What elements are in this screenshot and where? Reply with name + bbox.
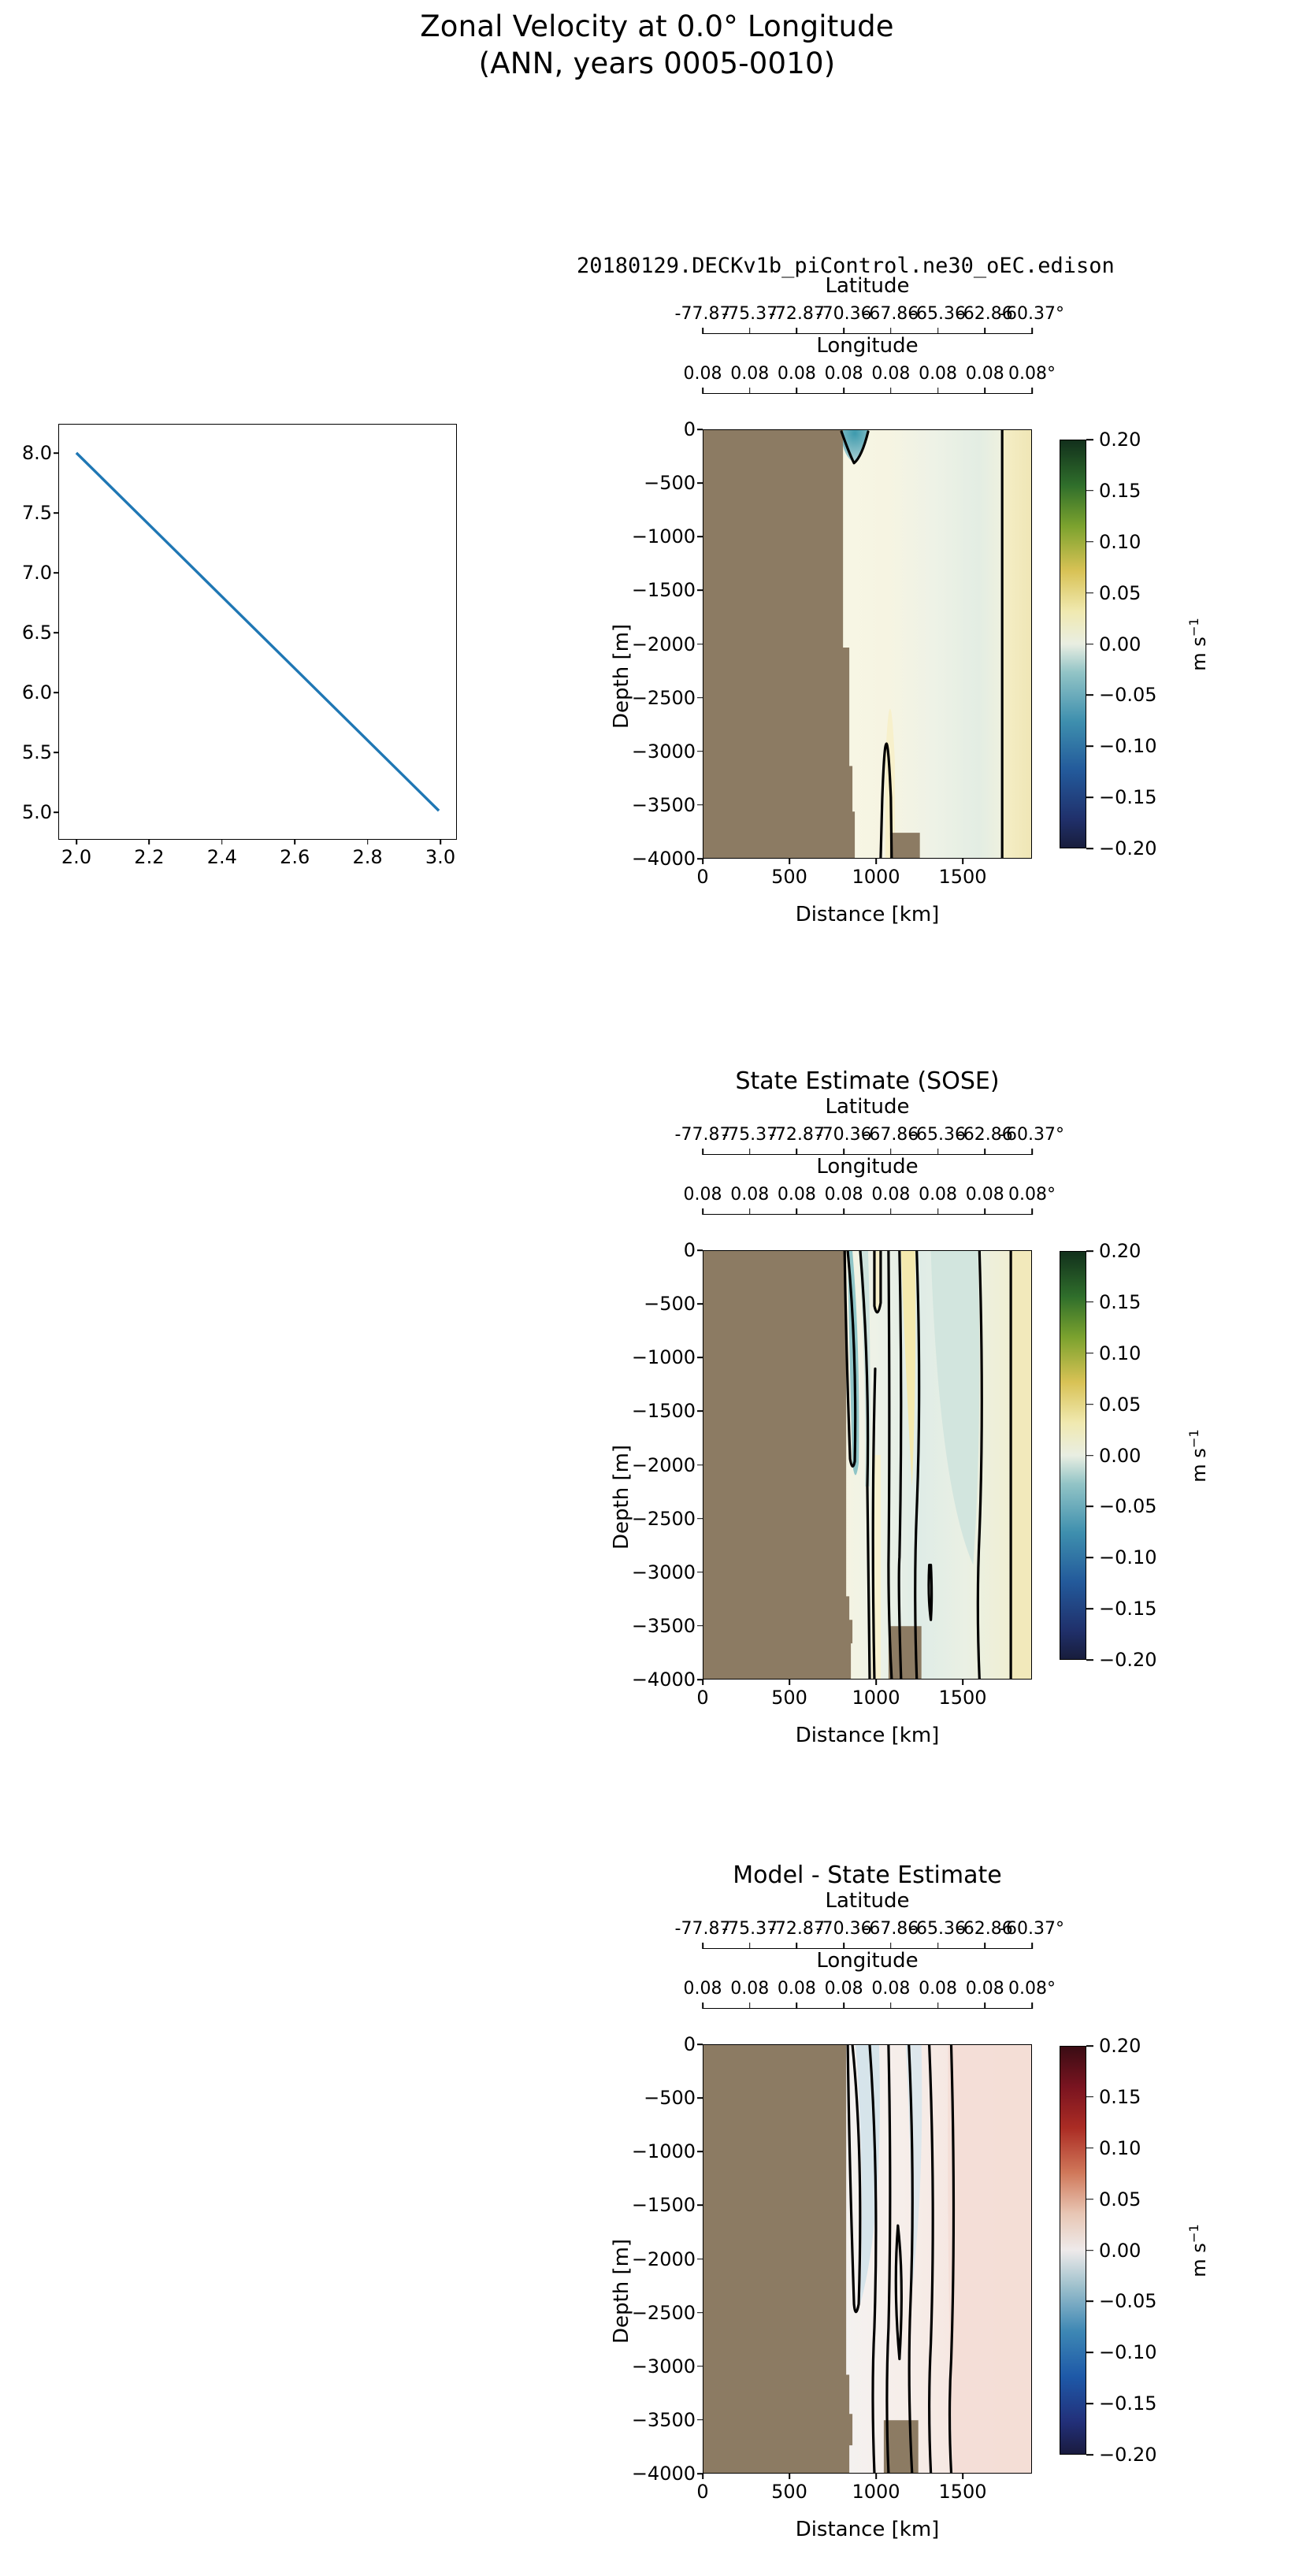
depth-tick-label: 0 <box>684 2033 696 2055</box>
latitude-tick <box>843 1943 844 1949</box>
distance-tick <box>789 2474 790 2479</box>
distance-tick-label: 0 <box>696 866 708 888</box>
panel-sose-field <box>703 1251 1031 1679</box>
longitude-tick-label: 0.08 <box>730 364 769 384</box>
longitude-tick <box>937 388 939 394</box>
latitude-tick-label: -60.37° <box>1000 304 1064 324</box>
latitude-tick <box>749 1943 751 1949</box>
colorbar-tick <box>1086 1506 1093 1508</box>
depth-tick-label: −2500 <box>632 2302 696 2324</box>
colorbar-tick <box>1086 490 1093 492</box>
latitude-tick-label: -60.37° <box>1000 1125 1064 1145</box>
placeholder-line-plot-axes: 5.05.56.06.57.07.58.02.02.22.42.62.83.0 <box>58 424 457 840</box>
depth-tick <box>697 429 703 430</box>
depth-tick <box>697 697 703 699</box>
panel-difference-plot-area <box>703 2044 1032 2474</box>
latitude-tick <box>890 1943 892 1949</box>
distance-tick <box>962 2474 963 2479</box>
line-plot-ytick-label: 6.5 <box>22 622 52 644</box>
depth-tick-label: −2500 <box>632 687 696 709</box>
longitude-tick <box>796 2003 798 2009</box>
colorbar-tick <box>1086 1608 1093 1609</box>
longitude-tick-label: 0.08 <box>684 1185 722 1204</box>
line-plot-ytick-label: 5.0 <box>22 801 52 823</box>
colorbar-tick <box>1086 848 1093 849</box>
colorbar-tick-label: 0.10 <box>1099 1342 1141 1364</box>
line-plot-xtick <box>149 839 150 844</box>
line-plot-xtick <box>76 839 77 844</box>
depth-tick <box>697 804 703 806</box>
distance-tick-label: 1000 <box>852 866 900 888</box>
colorbar-tick-label: −0.15 <box>1099 2392 1157 2415</box>
distance-tick <box>875 859 877 864</box>
distance-tick-label: 500 <box>771 866 807 888</box>
depth-tick-label: −3500 <box>632 1615 696 1637</box>
line-plot-xtick-label: 2.8 <box>353 846 383 868</box>
colorbar-tick <box>1086 1557 1093 1558</box>
colorbar-tick <box>1086 2301 1093 2303</box>
depth-tick-label: 0 <box>684 1239 696 1261</box>
latitude-tick <box>890 328 892 334</box>
longitude-tick-label: 0.08 <box>966 1185 1004 1204</box>
colorbar-tick-label: −0.10 <box>1099 735 1157 757</box>
depth-tick <box>697 2043 703 2045</box>
depth-tick <box>697 2205 703 2207</box>
panel-model-xlabel: Distance [km] <box>703 903 1032 926</box>
longitude-tick-label: 0.08 <box>871 364 910 384</box>
colorbar-tick <box>1086 2096 1093 2098</box>
distance-tick-label: 500 <box>771 1687 807 1709</box>
colorbar-tick <box>1086 644 1093 645</box>
colorbar-tick <box>1086 745 1093 747</box>
distance-tick-label: 0 <box>696 2481 708 2503</box>
distance-tick <box>875 1680 877 1685</box>
colorbar-tick-label: 0.00 <box>1099 633 1141 655</box>
longitude-tick <box>937 2003 939 2009</box>
latitude-tick <box>796 1149 798 1155</box>
colorbar-tick <box>1086 2199 1093 2200</box>
longitude-tick-label: 0.08° <box>1008 1185 1056 1204</box>
line-plot-ytick-label: 5.5 <box>22 741 52 763</box>
colorbar-tick-label: 0.05 <box>1099 2188 1141 2210</box>
distance-tick <box>962 1680 963 1685</box>
line-plot-ytick-label: 8.0 <box>22 442 52 464</box>
longitude-tick <box>843 388 844 394</box>
latitude-tick <box>796 328 798 334</box>
panel-difference-title: Model - State Estimate <box>703 1861 1032 1890</box>
longitude-tick <box>843 1208 844 1215</box>
longitude-tick-label: 0.08° <box>1008 364 1056 384</box>
panel-model-plot-area <box>703 429 1032 859</box>
distance-tick <box>875 2474 877 2479</box>
line-plot-ytick-label: 7.0 <box>22 562 52 584</box>
latitude-tick <box>702 1943 703 1949</box>
longitude-tick-label: 0.08 <box>730 1979 769 1999</box>
longitude-tick-label: 0.08 <box>871 1979 910 1999</box>
depth-tick-label: −1000 <box>632 2140 696 2162</box>
longitude-tick-label: 0.08 <box>778 364 816 384</box>
colorbar-tick <box>1086 1455 1093 1457</box>
colorbar-tick-label: 0.00 <box>1099 2240 1141 2262</box>
panel-difference-ylabel: Depth [m] <box>610 2239 633 2344</box>
longitude-tick <box>1031 1208 1033 1215</box>
distance-tick-label: 0 <box>696 1687 708 1709</box>
line-plot-xtick-label: 2.4 <box>207 846 237 868</box>
colorbar-tick <box>1086 439 1093 440</box>
depth-tick-label: −2000 <box>632 2248 696 2270</box>
depth-tick-label: −1500 <box>632 2194 696 2216</box>
colorbar-tick <box>1086 2045 1093 2047</box>
line-plot-xtick <box>221 839 223 844</box>
latitude-tick <box>1031 1943 1033 1949</box>
colorbar-model-label: m s−1 <box>1186 618 1210 671</box>
longitude-tick-label: 0.08 <box>966 364 1004 384</box>
depth-tick-label: 0 <box>684 418 696 440</box>
depth-tick <box>697 1625 703 1627</box>
depth-tick-label: −500 <box>644 1293 696 1315</box>
panel-sose-colorbar: m s−1 0.200.150.100.050.00−0.05−0.10−0.1… <box>1060 1251 1086 1660</box>
line-plot-ytick-label: 7.5 <box>22 502 52 524</box>
panel-model: 20180129.DECKv1b_piControl.ne30_oEC.edis… <box>703 429 1032 859</box>
longitude-tick-label: 0.08 <box>966 1979 1004 1999</box>
colorbar-tick-label: 0.15 <box>1099 1291 1141 1313</box>
panel-sose: State Estimate (SOSE) Latitude -77.87-75… <box>703 1250 1032 1680</box>
colorbar-tick-label: 0.20 <box>1099 1240 1141 1262</box>
distance-tick-label: 1500 <box>938 2481 986 2503</box>
latitude-tick <box>843 328 844 334</box>
colorbar-tick <box>1086 1250 1093 1252</box>
colorbar-tick-label: −0.05 <box>1099 684 1157 706</box>
longitude-tick <box>1031 2003 1033 2009</box>
longitude-tick-label: 0.08 <box>730 1185 769 1204</box>
distance-tick-label: 500 <box>771 2481 807 2503</box>
line-plot-xtick-label: 2.2 <box>134 846 164 868</box>
colorbar-tick-label: −0.20 <box>1099 837 1157 859</box>
latitude-tick <box>984 1943 985 1949</box>
distance-tick <box>962 859 963 864</box>
line-plot-xtick-label: 2.6 <box>280 846 310 868</box>
colorbar-tick <box>1086 1404 1093 1405</box>
depth-tick <box>697 1411 703 1412</box>
depth-tick-label: −500 <box>644 2087 696 2109</box>
depth-tick-label: −1000 <box>632 1346 696 1368</box>
colorbar-tick-label: −0.10 <box>1099 2341 1157 2363</box>
latitude-tick <box>937 1149 939 1155</box>
longitude-tick <box>890 1208 892 1215</box>
longitude-tick-label: 0.08 <box>825 364 863 384</box>
panel-model-longitude-axis: Longitude 0.080.080.080.080.080.080.080.… <box>703 393 1032 394</box>
longitude-tick <box>1031 388 1033 394</box>
latitude-tick <box>937 1943 939 1949</box>
longitude-tick <box>796 388 798 394</box>
latitude-axis-name: Latitude <box>825 1095 909 1119</box>
line-plot-ytick <box>54 632 59 633</box>
colorbar-tick-label: −0.15 <box>1099 786 1157 808</box>
colorbar-tick-label: 0.10 <box>1099 531 1141 553</box>
depth-tick-label: −3500 <box>632 794 696 816</box>
latitude-tick <box>890 1149 892 1155</box>
line-plot-xtick <box>367 839 369 844</box>
depth-tick <box>697 1518 703 1520</box>
longitude-tick <box>843 2003 844 2009</box>
longitude-tick-label: 0.08 <box>825 1979 863 1999</box>
longitude-tick <box>890 2003 892 2009</box>
depth-tick <box>697 2097 703 2099</box>
depth-tick <box>697 2473 703 2474</box>
depth-tick-label: −2000 <box>632 1454 696 1476</box>
colorbar-tick-label: −0.05 <box>1099 1495 1157 1517</box>
longitude-tick <box>890 388 892 394</box>
colorbar-tick <box>1086 2147 1093 2149</box>
latitude-tick-label: -60.37° <box>1000 1919 1064 1939</box>
distance-tick-label: 1500 <box>938 866 986 888</box>
latitude-tick <box>702 328 703 334</box>
depth-tick-label: −2000 <box>632 633 696 655</box>
colorbar-tick <box>1086 1353 1093 1354</box>
colorbar-tick-label: 0.15 <box>1099 480 1141 502</box>
colorbar-gradient-balance <box>1060 2046 1086 2455</box>
longitude-tick <box>984 1208 985 1215</box>
depth-tick <box>697 644 703 645</box>
depth-tick <box>697 2312 703 2314</box>
latitude-tick <box>984 1149 985 1155</box>
colorbar-tick-label: 0.10 <box>1099 2137 1141 2159</box>
colorbar-tick-label: 0.00 <box>1099 1445 1141 1467</box>
suptitle-line-2: (ANN, years 0005-0010) <box>0 45 1314 82</box>
panel-difference-xlabel: Distance [km] <box>703 2518 1032 2541</box>
longitude-tick <box>702 2003 703 2009</box>
colorbar-tick <box>1086 541 1093 543</box>
longitude-tick <box>749 2003 751 2009</box>
distance-tick <box>789 859 790 864</box>
longitude-tick <box>749 388 751 394</box>
line-plot-xtick <box>440 839 441 844</box>
line-plot-ytick <box>54 752 59 753</box>
depth-tick-label: −3000 <box>632 2355 696 2377</box>
longitude-tick <box>749 1208 751 1215</box>
longitude-tick <box>984 2003 985 2009</box>
colorbar-tick-label: 0.05 <box>1099 1394 1141 1416</box>
depth-tick <box>697 2419 703 2421</box>
panel-sose-plot-area <box>703 1250 1032 1680</box>
colorbar-tick-label: 0.15 <box>1099 2086 1141 2108</box>
depth-tick-label: −1500 <box>632 579 696 601</box>
longitude-tick <box>937 1208 939 1215</box>
colorbar-tick <box>1086 2351 1093 2353</box>
latitude-tick <box>937 328 939 334</box>
latitude-axis-name: Latitude <box>825 1889 909 1913</box>
longitude-tick <box>796 1208 798 1215</box>
colorbar-gradient-delta <box>1060 440 1086 848</box>
line-plot-xtick <box>294 839 295 844</box>
distance-tick-label: 1000 <box>852 1687 900 1709</box>
longitude-tick-label: 0.08 <box>825 1185 863 1204</box>
colorbar-gradient-delta <box>1060 1251 1086 1660</box>
line-plot-ytick <box>54 811 59 813</box>
latitude-axis-name: Latitude <box>825 274 909 298</box>
line-plot-ytick <box>54 512 59 514</box>
depth-tick <box>697 1303 703 1305</box>
distance-tick <box>702 1680 703 1685</box>
depth-tick-label: −4000 <box>632 1668 696 1691</box>
longitude-tick-label: 0.08 <box>919 1185 957 1204</box>
line-plot-ytick-label: 6.0 <box>22 681 52 703</box>
panel-model-colorbar: m s−1 0.200.150.100.050.00−0.05−0.10−0.1… <box>1060 440 1086 848</box>
figure-suptitle: Zonal Velocity at 0.0° Longitude (ANN, y… <box>0 8 1314 82</box>
panel-difference-field <box>703 2045 1031 2473</box>
longitude-axis-name: Longitude <box>816 1155 918 1179</box>
colorbar-sose-label: m s−1 <box>1186 1429 1210 1483</box>
colorbar-tick <box>1086 796 1093 798</box>
depth-tick <box>697 1357 703 1358</box>
suptitle-line-1: Zonal Velocity at 0.0° Longitude <box>420 9 894 43</box>
depth-tick <box>697 2259 703 2260</box>
distance-tick-label: 1500 <box>938 1687 986 1709</box>
longitude-tick-label: 0.08 <box>919 364 957 384</box>
line-plot-ytick <box>54 572 59 573</box>
longitude-tick-label: 0.08° <box>1008 1979 1056 1999</box>
panel-difference-colorbar: m s−1 0.200.150.100.050.00−0.05−0.10−0.1… <box>1060 2046 1086 2455</box>
longitude-tick <box>702 388 703 394</box>
colorbar-tick <box>1086 2454 1093 2455</box>
panel-difference: Model - State Estimate Latitude -77.87-7… <box>703 2044 1032 2474</box>
latitude-tick <box>1031 1149 1033 1155</box>
colorbar-tick <box>1086 1301 1093 1303</box>
longitude-tick-label: 0.08 <box>778 1979 816 1999</box>
line-plot-ytick <box>54 452 59 454</box>
depth-tick-label: −2500 <box>632 1508 696 1530</box>
longitude-axis-name: Longitude <box>816 1949 918 1973</box>
colorbar-tick-label: −0.15 <box>1099 1598 1157 1620</box>
depth-tick <box>697 1464 703 1466</box>
longitude-tick-label: 0.08 <box>684 364 722 384</box>
colorbar-tick <box>1086 2403 1093 2404</box>
depth-tick-label: −3000 <box>632 741 696 763</box>
panel-sose-longitude-axis: Longitude 0.080.080.080.080.080.080.080.… <box>703 1214 1032 1215</box>
longitude-tick-label: 0.08 <box>919 1979 957 1999</box>
colorbar-tick <box>1086 695 1093 696</box>
depth-tick-label: −3500 <box>632 2409 696 2431</box>
colorbar-tick-label: −0.10 <box>1099 1546 1157 1568</box>
panel-sose-xlabel: Distance [km] <box>703 1724 1032 1747</box>
colorbar-tick-label: −0.20 <box>1099 1649 1157 1671</box>
colorbar-tick <box>1086 2250 1093 2251</box>
depth-tick <box>697 1679 703 1680</box>
distance-tick <box>702 2474 703 2479</box>
latitude-tick <box>796 1943 798 1949</box>
latitude-tick <box>702 1149 703 1155</box>
panel-sose-title: State Estimate (SOSE) <box>703 1067 1032 1096</box>
longitude-tick-label: 0.08 <box>871 1185 910 1204</box>
depth-tick-label: −500 <box>644 472 696 494</box>
colorbar-tick <box>1086 1659 1093 1661</box>
longitude-tick-label: 0.08 <box>778 1185 816 1204</box>
depth-tick <box>697 751 703 752</box>
colorbar-tick-label: 0.20 <box>1099 2035 1141 2057</box>
line-plot-xtick-label: 2.0 <box>61 846 91 868</box>
colorbar-tick-label: 0.20 <box>1099 429 1141 451</box>
depth-tick <box>697 2366 703 2367</box>
longitude-tick <box>702 1208 703 1215</box>
depth-tick <box>697 536 703 537</box>
line-plot-svg <box>59 425 456 839</box>
depth-tick <box>697 858 703 859</box>
figure-canvas: Zonal Velocity at 0.0° Longitude (ANN, y… <box>0 0 1314 2576</box>
distance-tick <box>789 1680 790 1685</box>
longitude-tick <box>984 388 985 394</box>
panel-model-field <box>703 430 1031 858</box>
line-plot-xtick-label: 3.0 <box>425 846 455 868</box>
depth-tick <box>697 1572 703 1573</box>
depth-tick <box>697 1249 703 1251</box>
line-plot-ytick <box>54 692 59 693</box>
depth-tick-label: −1500 <box>632 1400 696 1422</box>
depth-tick-label: −3000 <box>632 1561 696 1583</box>
depth-tick <box>697 2151 703 2152</box>
latitude-tick <box>749 1149 751 1155</box>
latitude-tick <box>843 1149 844 1155</box>
latitude-tick <box>1031 328 1033 334</box>
latitude-tick <box>984 328 985 334</box>
colorbar-tick-label: −0.20 <box>1099 2444 1157 2466</box>
colorbar-tick <box>1086 592 1093 594</box>
latitude-tick <box>749 328 751 334</box>
depth-tick <box>697 590 703 592</box>
depth-tick-label: −4000 <box>632 2463 696 2485</box>
longitude-tick-label: 0.08 <box>684 1979 722 1999</box>
panel-sose-ylabel: Depth [m] <box>610 1445 633 1550</box>
depth-tick <box>697 482 703 484</box>
colorbar-difference-label: m s−1 <box>1186 2224 1210 2277</box>
distance-tick-label: 1000 <box>852 2481 900 2503</box>
colorbar-tick-label: −0.05 <box>1099 2290 1157 2312</box>
distance-tick <box>702 859 703 864</box>
longitude-axis-name: Longitude <box>816 334 918 358</box>
depth-tick-label: −4000 <box>632 848 696 870</box>
panel-model-ylabel: Depth [m] <box>610 624 633 729</box>
colorbar-tick-label: 0.05 <box>1099 582 1141 604</box>
depth-tick-label: −1000 <box>632 525 696 547</box>
panel-difference-longitude-axis: Longitude 0.080.080.080.080.080.080.080.… <box>703 2008 1032 2009</box>
